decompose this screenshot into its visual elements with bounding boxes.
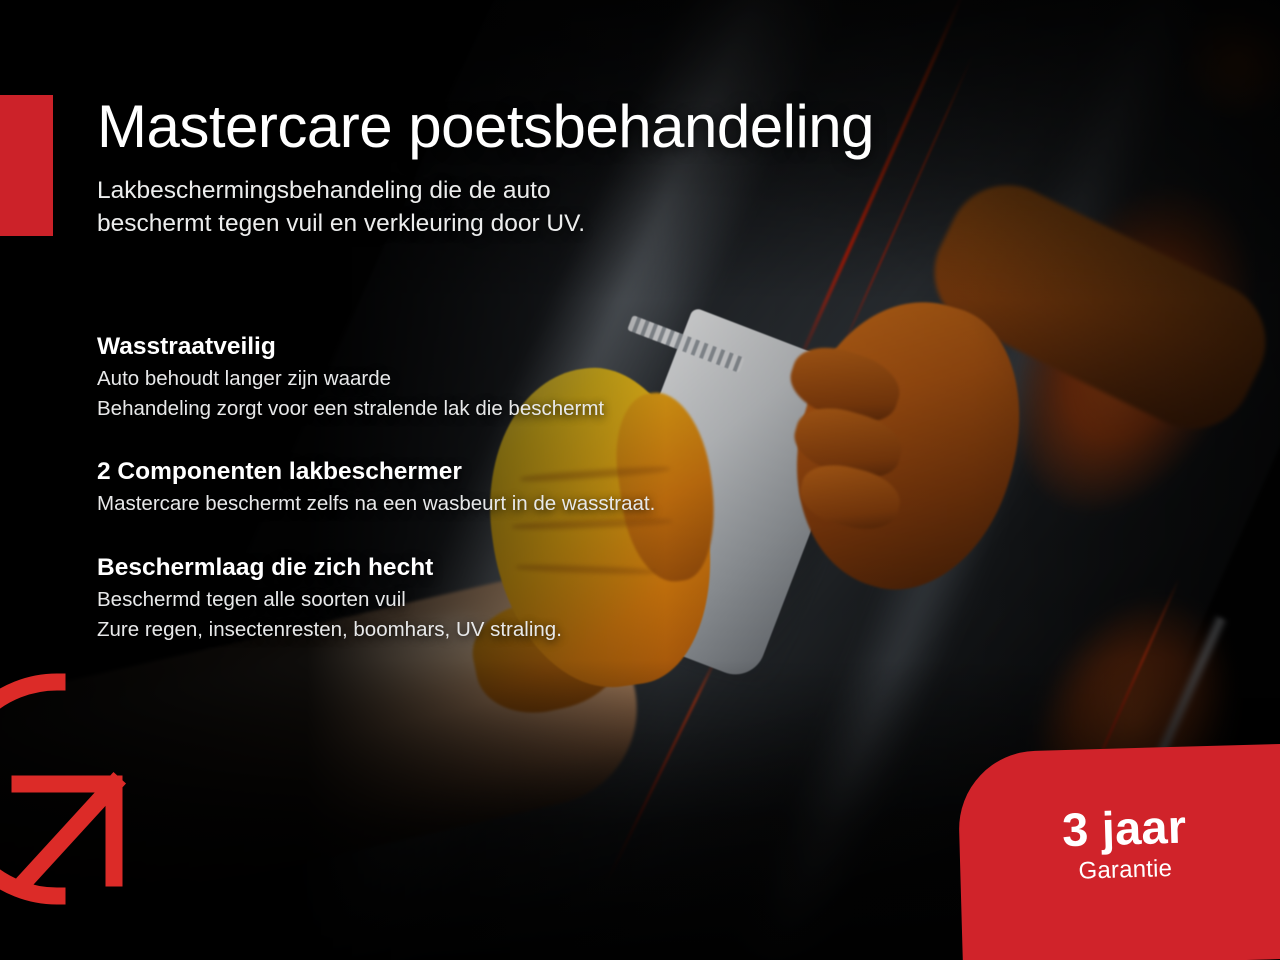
feature-description: Auto behoudt langer zijn waarde <box>97 364 655 394</box>
guarantee-duration: 3 jaar <box>1061 801 1186 854</box>
feature-description: Mastercare beschermt zelfs na een wasbeu… <box>97 489 655 519</box>
feature-item: Beschermlaag die zich hecht Beschermd te… <box>97 551 655 645</box>
feature-title: Wasstraatveilig <box>97 330 655 364</box>
guarantee-label: Garantie <box>1078 855 1172 886</box>
feature-description: Beschermd tegen alle soorten vuil <box>97 585 655 615</box>
promotional-banner: Mastercare poetsbehandeling Lakbeschermi… <box>0 0 1280 960</box>
page-title: Mastercare poetsbehandeling <box>97 92 874 161</box>
feature-list: Wasstraatveilig Auto behoudt langer zijn… <box>97 330 655 645</box>
feature-title: 2 Componenten lakbeschermer <box>97 455 655 489</box>
page-subtitle: Lakbeschermingsbehandeling die de auto b… <box>97 174 585 240</box>
guarantee-badge: 3 jaar Garantie <box>957 744 1280 960</box>
feature-item: 2 Componenten lakbeschermer Mastercare b… <box>97 455 655 519</box>
feature-description: Behandeling zorgt voor een stralende lak… <box>97 394 655 424</box>
feature-description: Zure regen, insectenresten, boomhars, UV… <box>97 615 655 645</box>
feature-item: Wasstraatveilig Auto behoudt langer zijn… <box>97 330 655 424</box>
subtitle-line-1: Lakbeschermingsbehandeling die de auto <box>97 174 585 207</box>
subtitle-line-2: beschermt tegen vuil en verkleuring door… <box>97 207 585 240</box>
feature-title: Beschermlaag die zich hecht <box>97 551 655 585</box>
